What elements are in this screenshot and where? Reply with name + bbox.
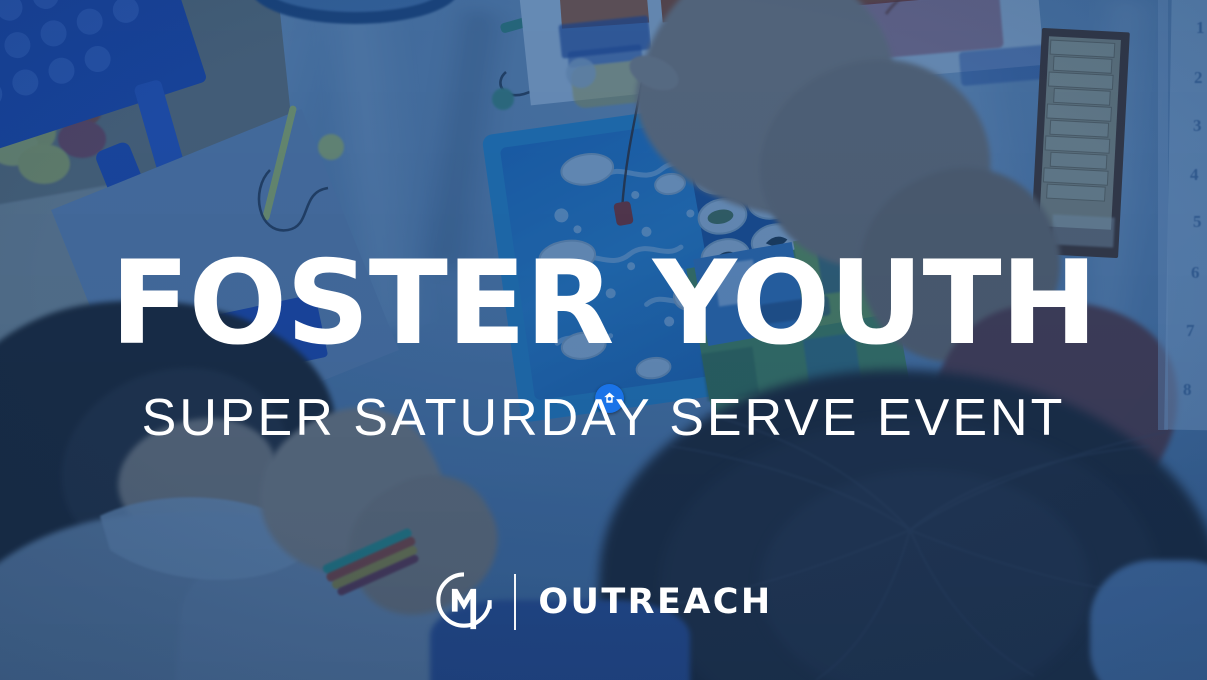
logo-wordmark: OUTREACH [538, 585, 772, 620]
page-title: FOSTER YOUTH [0, 246, 1207, 362]
circle-m-monogram-icon [434, 571, 494, 633]
vertical-divider-icon [514, 574, 516, 630]
logo-lockup: OUTREACH [0, 568, 1207, 636]
banner-graphic: 1 2 3 4 5 6 7 8 FOSTER YOUTH SUPER SATUR… [0, 0, 1207, 680]
page-subtitle: SUPER SATURDAY SERVE EVENT [0, 392, 1207, 444]
